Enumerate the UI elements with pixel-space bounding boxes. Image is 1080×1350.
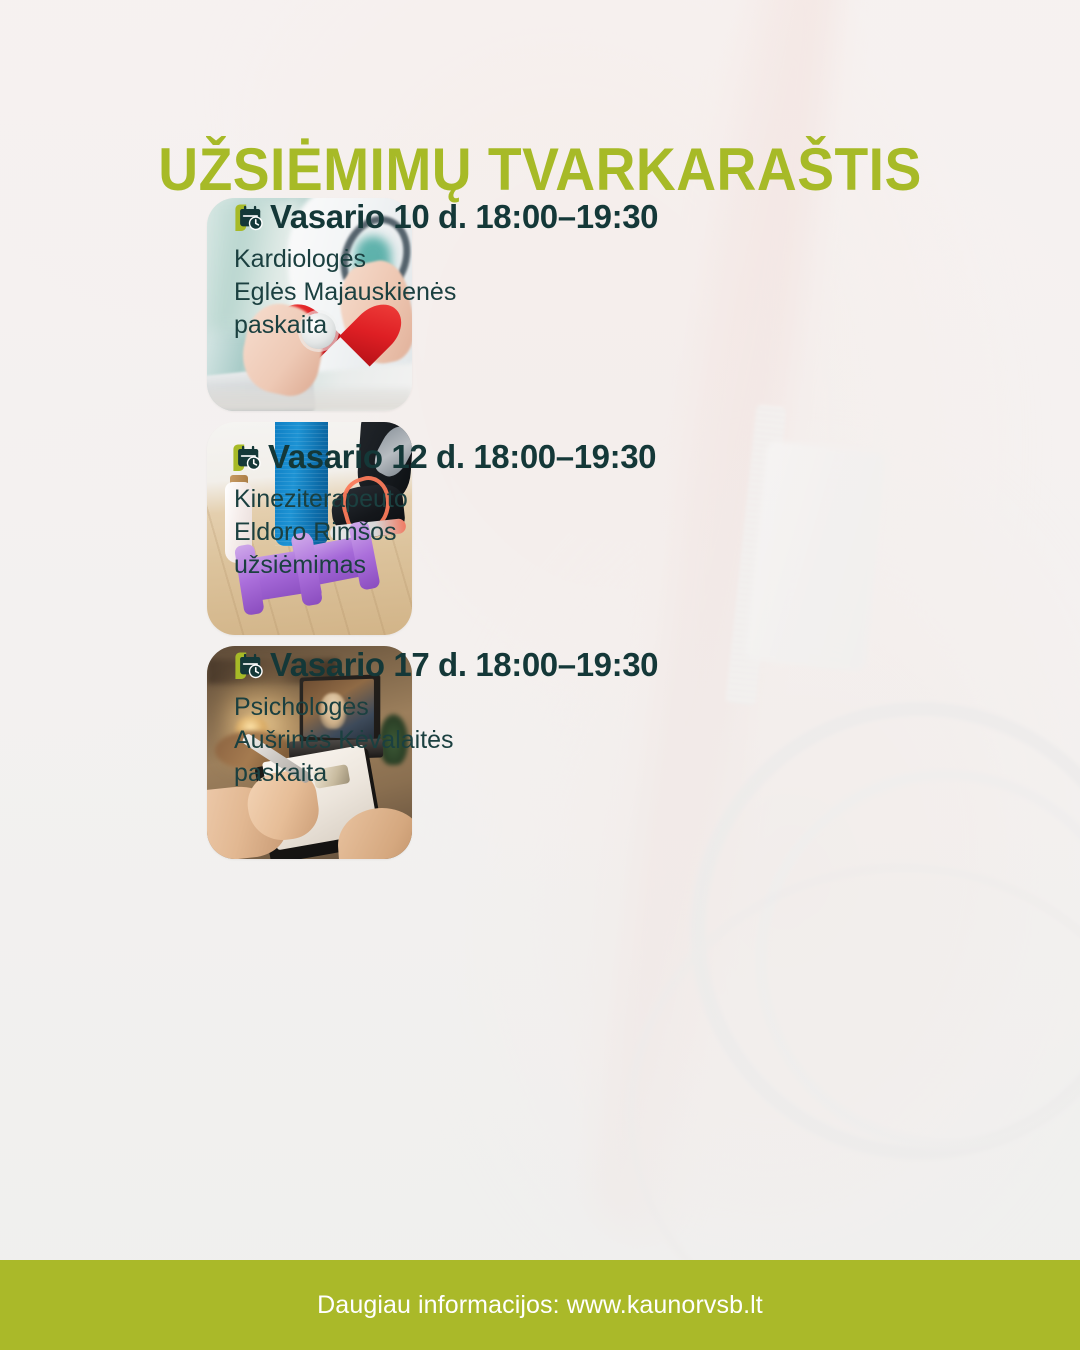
session-datetime: Vasario 17 d. 18:00–19:30 — [270, 648, 658, 683]
calendar-clock-icon — [234, 651, 264, 681]
session-list: Vasario 10 d. 18:00–19:30 Kardiologės Eg… — [0, 198, 1080, 871]
list-item: Vasario 10 d. 18:00–19:30 Kardiologės Eg… — [0, 198, 1080, 411]
schedule-poster: UŽSIĖMIMŲ TVARKARAŠTIS — [0, 0, 1080, 1350]
session-text: Vasario 17 d. 18:00–19:30 Psichologės Au… — [207, 646, 1080, 790]
session-datetime-row: Vasario 17 d. 18:00–19:30 — [234, 648, 1080, 683]
session-datetime-row: Vasario 12 d. 18:00–19:30 — [232, 440, 1080, 475]
session-datetime-row: Vasario 10 d. 18:00–19:30 — [234, 200, 1080, 235]
footer-bar: Daugiau informacijos: www.kaunorvsb.lt — [0, 1260, 1080, 1350]
footer-more-info-text: Daugiau informacijos: www.kaunorvsb.lt — [317, 1291, 763, 1320]
session-description: Psichologės Aušrinės Kėvalaitės paskaita — [234, 691, 1080, 790]
page-title: UŽSIĖMIMŲ TVARKARAŠTIS — [43, 140, 1037, 200]
session-text: Vasario 12 d. 18:00–19:30 Kineziterapeut… — [207, 422, 1080, 582]
list-item: Vasario 12 d. 18:00–19:30 Kineziterapeut… — [0, 422, 1080, 635]
session-datetime: Vasario 12 d. 18:00–19:30 — [268, 440, 656, 475]
session-description: Kardiologės Eglės Majauskienės paskaita — [234, 243, 1080, 342]
calendar-clock-icon — [234, 203, 264, 233]
session-datetime: Vasario 10 d. 18:00–19:30 — [270, 200, 658, 235]
calendar-clock-icon — [232, 443, 262, 473]
list-item: Vasario 17 d. 18:00–19:30 Psichologės Au… — [0, 646, 1080, 859]
session-description: Kineziterapeuto Eldoro Rimšos užsiėmimas — [234, 483, 1080, 582]
session-text: Vasario 10 d. 18:00–19:30 Kardiologės Eg… — [207, 198, 1080, 342]
